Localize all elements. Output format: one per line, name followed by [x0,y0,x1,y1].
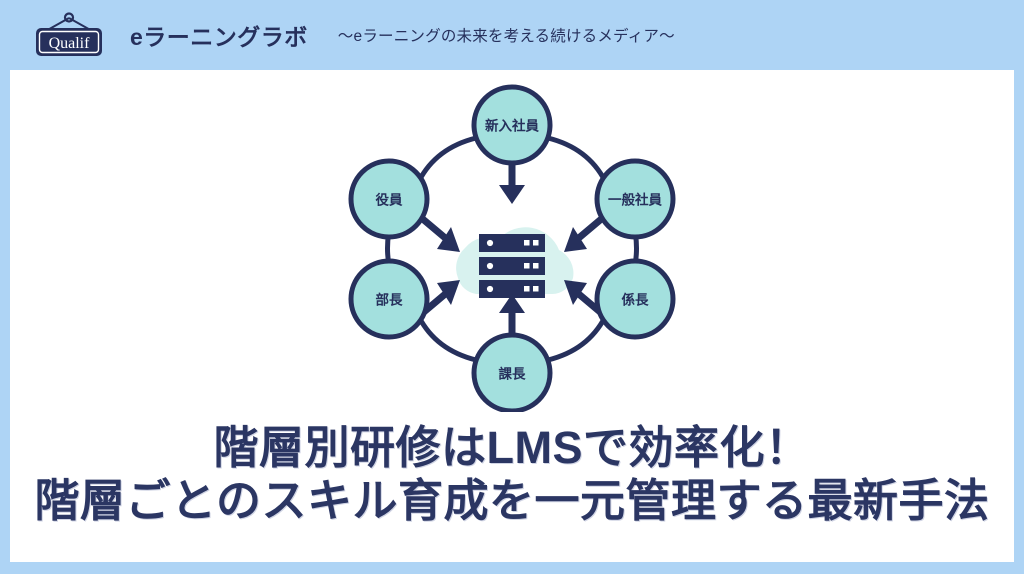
node-label-chief-clerk: 係長 [622,292,650,308]
brand-name: eラーニングラボ [130,18,308,52]
headline-block: 階層別研修はLMSで効率化！ 階層ごとのスキル育成を一元管理する最新手法 [10,422,1014,527]
server-rack-icon [479,234,545,298]
node-department-manager[interactable]: 部長 [351,261,427,337]
node-label-general-employee: 一般社員 [608,192,662,208]
qualif-logo[interactable]: Qualif [30,12,108,58]
site-header: Qualif eラーニングラボ 〜eラーニングの未来を考える続けるメディア〜 [0,0,1024,70]
node-label-department-manager: 部長 [376,292,403,308]
node-section-chief[interactable]: 課長 [474,335,550,411]
node-chief-clerk[interactable]: 係長 [597,261,673,337]
hierarchy-cloud-diagram: 新入社員 一般社員 係長 課長 [332,82,692,412]
node-executive[interactable]: 役員 [351,161,427,237]
node-new-employee[interactable]: 新入社員 [474,87,550,163]
site-tagline: 〜eラーニングの未来を考える続けるメディア〜 [338,24,675,46]
node-general-employee[interactable]: 一般社員 [597,161,673,237]
headline-line-2: 階層ごとのスキル育成を一元管理する最新手法 [10,475,1014,528]
node-label-executive: 役員 [376,192,403,208]
logo-text: Qualif [49,35,91,52]
content-card: 新入社員 一般社員 係長 課長 [10,70,1014,562]
node-label-section-chief: 課長 [499,366,527,382]
node-label-new-employee: 新入社員 [485,118,539,134]
headline-line-1: 階層別研修はLMSで効率化！ [10,422,1014,475]
hanging-sign-icon: Qualif [30,12,108,58]
slide-canvas: Qualif eラーニングラボ 〜eラーニングの未来を考える続けるメディア〜 [0,0,1024,574]
